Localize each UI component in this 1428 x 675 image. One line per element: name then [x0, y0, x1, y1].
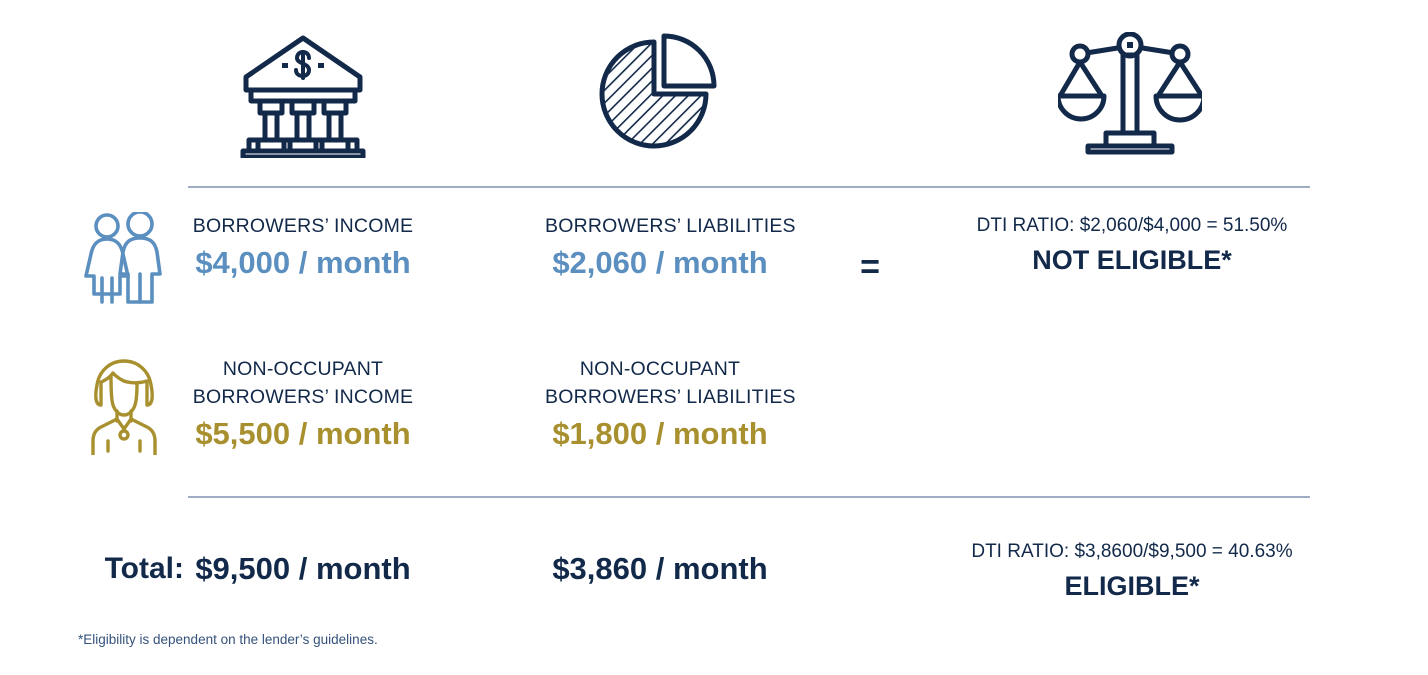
borrowers-income-cell: BORROWERS’ INCOME $4,000 / month [188, 212, 418, 284]
borrowers-liabilities-cell: BORROWERS’ LIABILITIES $2,060 / month [545, 212, 775, 284]
total-income-amount: $9,500 / month [188, 548, 418, 590]
pie-chart-icon [545, 18, 775, 170]
total-dti-ratio-text: DTI RATIO: $3,8600/$9,500 = 40.63% [948, 538, 1316, 566]
non-occupant-income-amount: $5,500 / month [188, 413, 418, 455]
non-occupant-income-label-line2: BORROWERS’ INCOME [188, 383, 418, 411]
total-liabilities-amount: $3,860 / month [545, 548, 775, 590]
non-occupant-liabilities-label-line1: NON-OCCUPANT [545, 355, 775, 383]
total-label: Total: [62, 548, 184, 590]
non-occupant-income-label-line1: NON-OCCUPANT [188, 355, 418, 383]
single-person-icon [62, 355, 186, 455]
non-occupant-liabilities-label-line2: BORROWERS’ LIABILITIES [545, 383, 775, 411]
eligibility-status-badge: NOT ELIGIBLE* [948, 241, 1316, 279]
couple-people-icon [62, 212, 186, 304]
bank-building-icon [188, 18, 418, 170]
non-occupant-borrowers-row: NON-OCCUPANT BORROWERS’ INCOME $5,500 / … [0, 355, 1428, 475]
balance-scale-icon [1015, 18, 1245, 170]
borrowers-income-amount: $4,000 / month [188, 242, 418, 284]
borrowers-income-label: BORROWERS’ INCOME [188, 212, 418, 240]
borrowers-dti-cell: DTI RATIO: $2,060/$4,000 = 51.50% NOT EL… [948, 212, 1316, 279]
dti-ratio-text: DTI RATIO: $2,060/$4,000 = 51.50% [948, 212, 1316, 240]
divider-bottom [188, 496, 1310, 498]
divider-top [188, 186, 1310, 188]
equals-sign: = [838, 246, 902, 288]
borrowers-liabilities-label: BORROWERS’ LIABILITIES [545, 212, 775, 240]
total-eligibility-status-badge: ELIGIBLE* [948, 567, 1316, 605]
borrowers-row: BORROWERS’ INCOME $4,000 / month BORROWE… [0, 212, 1428, 322]
non-occupant-liabilities-cell: NON-OCCUPANT BORROWERS’ LIABILITIES $1,8… [545, 355, 775, 455]
dti-infographic: BORROWERS’ INCOME $4,000 / month BORROWE… [0, 0, 1428, 675]
equals-sign-cell: = [838, 212, 902, 288]
total-dti-cell: DTI RATIO: $3,8600/$9,500 = 40.63% ELIGI… [948, 538, 1316, 605]
non-occupant-income-cell: NON-OCCUPANT BORROWERS’ INCOME $5,500 / … [188, 355, 418, 455]
non-occupant-liabilities-amount: $1,800 / month [545, 413, 775, 455]
footnote-text: *Eligibility is dependent on the lender’… [78, 631, 378, 649]
total-row: Total: $9,500 / month $3,860 / month DTI… [0, 530, 1428, 610]
borrowers-liabilities-amount: $2,060 / month [545, 242, 775, 284]
icon-header-row [0, 18, 1428, 170]
